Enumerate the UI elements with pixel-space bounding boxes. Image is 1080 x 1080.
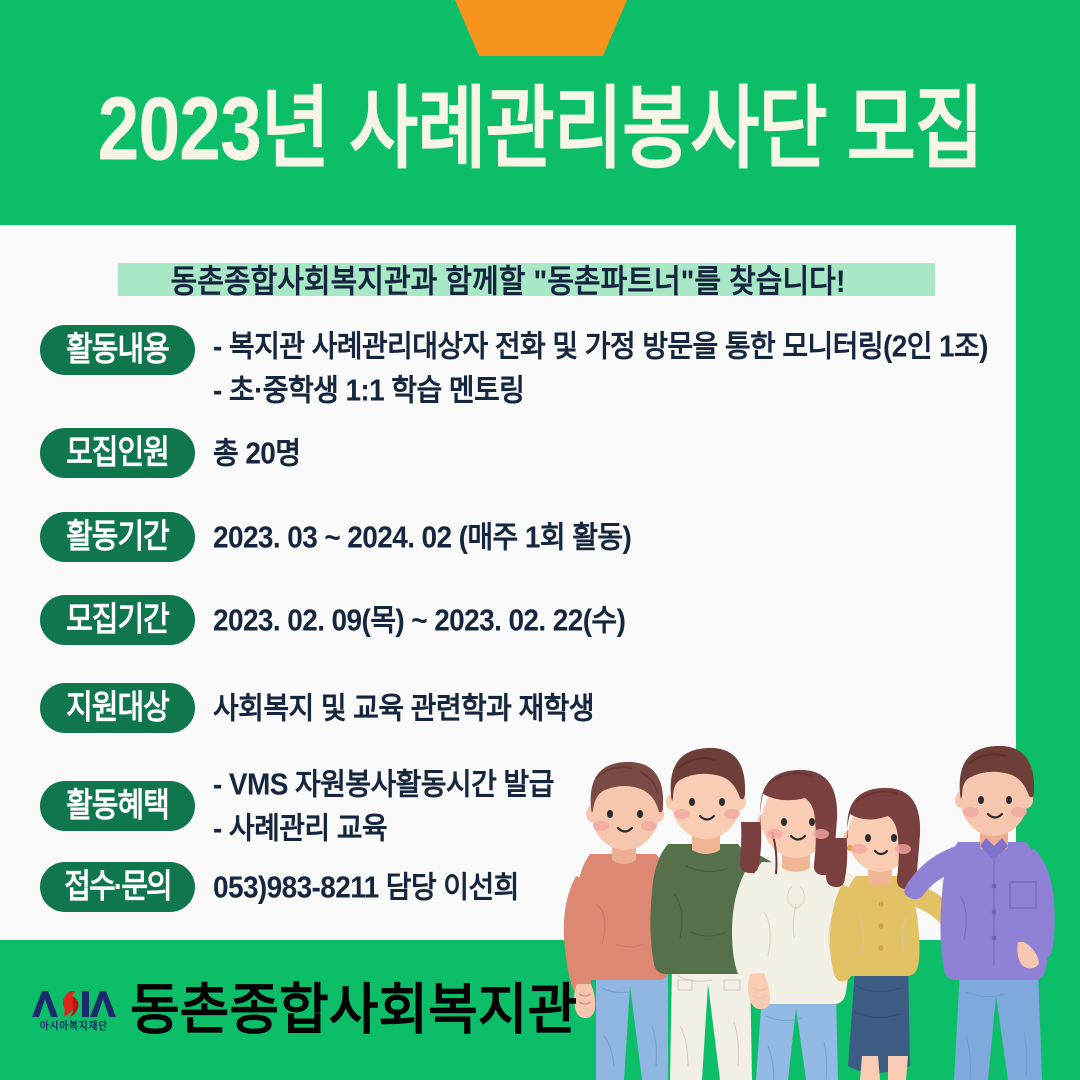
row-label-text: 모집기간 [66,603,169,637]
row-label-text: 활동내용 [66,333,169,367]
row-label-pill: 활동기간 [40,512,195,562]
row-label-pill: 활동혜택 [40,781,195,831]
poster-root: 2023년 사례관리봉사단 모집 동촌종합사회복지관과 함께할 "동촌파트너"를… [0,0,1080,1080]
info-row: 활동혜택 - VMS 자원봉사활동시간 발급 - 사례관리 교육 [0,763,1016,851]
row-label-pill: 지원대상 [40,683,195,733]
row-value-line: 사회복지 및 교육 관련학과 재학생 [213,685,1016,733]
row-values: 053)983-8211 담당 이선희 [195,862,1016,910]
row-value-line: 053)983-8211 담당 이선희 [213,864,1016,912]
info-row: 모집기간 2023. 02. 09(목) ~ 2023. 02. 22(수) [0,595,1016,645]
row-value-line: 2023. 03 ~ 2024. 02 (매주 1회 활동) [213,514,1016,562]
content-panel: 동촌종합사회복지관과 함께할 "동촌파트너"를 찾습니다! 활동내용 - 복지관… [0,225,1016,940]
row-value-line: - 사례관리 교육 [213,805,1016,853]
info-row: 활동기간 2023. 03 ~ 2024. 02 (매주 1회 활동) [0,512,1016,562]
page-title: 2023년 사례관리봉사단 모집 [97,85,983,175]
row-label-pill: 접수·문의 [40,862,195,912]
row-values: 2023. 02. 09(목) ~ 2023. 02. 22(수) [195,595,1016,643]
subtitle-text: 동촌종합사회복지관과 함께할 "동촌파트너"를 찾습니다! [0,258,1016,306]
row-values: - 복지관 사례관리대상자 전화 및 가정 방문을 통한 모니터링(2인 1조)… [195,325,1016,413]
info-row: 활동내용 - 복지관 사례관리대상자 전화 및 가정 방문을 통한 모니터링(2… [0,325,1016,413]
poster-header: 2023년 사례관리봉사단 모집 [0,0,1080,225]
row-label-pill: 모집인원 [40,428,195,478]
row-values: 총 20명 [195,428,1016,476]
row-label-pill: 활동내용 [40,325,195,375]
asia-wordmark-icon [30,989,118,1019]
row-label-text: 활동기간 [66,520,169,554]
row-values: 2023. 03 ~ 2024. 02 (매주 1회 활동) [195,512,1016,560]
info-row: 접수·문의 053)983-8211 담당 이선희 [0,862,1016,912]
poster-footer: 아시아복지재단 동촌종합사회복지관 [0,940,1080,1080]
info-row: 지원대상 사회복지 및 교육 관련학과 재학생 [0,683,1016,733]
row-label-text: 모집인원 [66,436,169,470]
subtitle-block: 동촌종합사회복지관과 함께할 "동촌파트너"를 찾습니다! [0,258,1016,304]
row-values: 사회복지 및 교육 관련학과 재학생 [195,683,1016,731]
row-value-line: - 복지관 사례관리대상자 전화 및 가정 방문을 통한 모니터링(2인 1조) [213,323,1016,371]
row-label-text: 지원대상 [66,691,169,725]
row-value-line: - 초·중학생 1:1 학습 멘토링 [213,367,1016,415]
row-value-line: 총 20명 [213,430,1016,478]
logo-subtitle: 아시아복지재단 [40,1021,108,1031]
row-label-text: 활동혜택 [66,789,169,823]
row-label-text: 접수·문의 [64,870,170,904]
row-value-line: 2023. 02. 09(목) ~ 2023. 02. 22(수) [213,597,1016,645]
row-values: - VMS 자원봉사활동시간 발급 - 사례관리 교육 [195,763,1016,851]
row-label-pill: 모집기간 [40,595,195,645]
asia-foundation-logo: 아시아복지재단 [30,989,118,1032]
row-value-line: - VMS 자원봉사활동시간 발급 [213,761,1016,809]
info-row: 모집인원 총 20명 [0,428,1016,478]
organization-name: 동촌종합사회복지관 [130,982,577,1037]
